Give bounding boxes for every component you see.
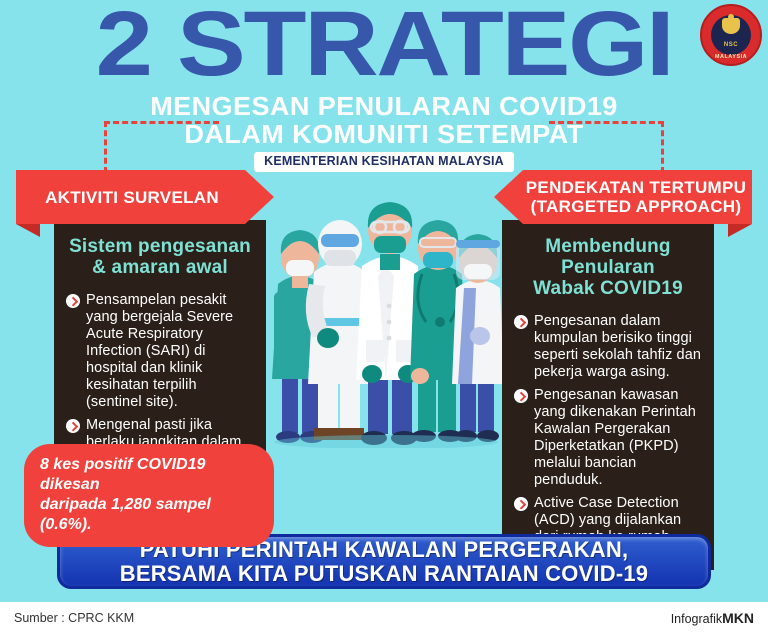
- stat-pill-sampling-result: 8 kes positif COVID19 dikesan daripada 1…: [24, 444, 274, 547]
- chevron-right-icon: [514, 315, 528, 329]
- panel-right-bullet-list: Pengesanan dalam kumpulan berisiko tingg…: [514, 313, 702, 546]
- dashed-connector-left: [104, 121, 219, 173]
- bullet-text: Pengesanan dalam kumpulan berisiko tingg…: [534, 313, 701, 380]
- ministry-badge: KEMENTERIAN KESIHATAN MALAYSIA: [254, 152, 514, 172]
- stat-pill-line-1: 8 kes positif COVID19 dikesan: [40, 455, 258, 495]
- list-item: Pengesanan kawasan yang dikenakan Perint…: [514, 387, 702, 489]
- chevron-right-icon: [66, 294, 80, 308]
- poster-footer: Sumber : CPRC KKM InfografikMKN: [0, 602, 768, 634]
- dashed-connector-right: [549, 121, 664, 173]
- chevron-right-icon: [514, 497, 528, 511]
- panel-right-heading-line-1: Membendung Penularan: [514, 236, 702, 278]
- stat-pill-line-2: daripada 1,280 sampel (0.6%).: [40, 495, 258, 535]
- healthcare-workers-illustration: [268, 188, 504, 448]
- panel-right-banner-fold: [728, 224, 752, 237]
- coat-of-arms-icon: [722, 18, 740, 34]
- panel-left-banner-label: AKTIVITI SURVELAN: [45, 188, 219, 207]
- footer-brand: InfografikMKN: [671, 610, 754, 626]
- panel-right-heading-line-2: Wabak COVID19: [514, 278, 702, 299]
- chevron-right-icon: [66, 419, 80, 433]
- footer-source: Sumber : CPRC KKM: [14, 611, 134, 625]
- cta-line-2: BERSAMA KITA PUTUSKAN RANTAIAN COVID-19: [120, 562, 648, 586]
- panel-left-heading-line-1: Sistem pengesanan: [66, 236, 254, 257]
- list-item: Pensampelan pesakit yang bergejala Sever…: [66, 292, 254, 411]
- panel-right-banner-line-2: (TARGETED APPROACH): [526, 197, 746, 216]
- panel-left-heading-line-2: & amaran awal: [66, 257, 254, 278]
- panel-right-banner-line-1: PENDEKATAN TERTUMPU: [526, 178, 746, 197]
- subtitle-line-1: MENGESAN PENULARAN COVID19: [0, 92, 768, 120]
- worker-5: [452, 234, 504, 442]
- bullet-text: Pensampelan pesakit yang bergejala Sever…: [86, 292, 233, 410]
- list-item: Pengesanan dalam kumpulan berisiko tingg…: [514, 313, 702, 381]
- mkn-seal-logo: NSC MALAYSIA: [700, 4, 762, 66]
- panel-left-bullet-list: Pensampelan pesakit yang bergejala Sever…: [66, 292, 254, 468]
- poster-header: 2 STRATEGI MENGESAN PENULARAN COVID19 DA…: [0, 0, 768, 175]
- seal-abbrev: NSC: [702, 42, 760, 48]
- panel-right-heading: Membendung Penularan Wabak COVID19: [514, 236, 702, 299]
- panel-aktiviti-survelan: AKTIVITI SURVELAN Sistem pengesanan & am…: [16, 170, 274, 492]
- panel-left-heading: Sistem pengesanan & amaran awal: [66, 236, 254, 278]
- panel-right-banner: PENDEKATAN TERTUMPU (TARGETED APPROACH): [494, 170, 752, 224]
- page-title: 2 STRATEGI: [0, 0, 768, 92]
- panel-left-banner: AKTIVITI SURVELAN: [16, 170, 274, 224]
- footer-brand-prefix: Infografik: [671, 612, 722, 626]
- bullet-text: Pengesanan kawasan yang dikenakan Perint…: [534, 387, 696, 488]
- footer-brand-bold: MKN: [722, 610, 754, 626]
- panel-pendekatan-tertumpu: PENDEKATAN TERTUMPU (TARGETED APPROACH) …: [494, 170, 752, 570]
- chevron-right-icon: [514, 389, 528, 403]
- infographic-poster: 2 STRATEGI MENGESAN PENULARAN COVID19 DA…: [0, 0, 768, 634]
- panel-left-banner-fold: [16, 224, 40, 237]
- panel-right-card: Membendung Penularan Wabak COVID19 Penge…: [502, 220, 714, 570]
- seal-country: MALAYSIA: [702, 54, 760, 60]
